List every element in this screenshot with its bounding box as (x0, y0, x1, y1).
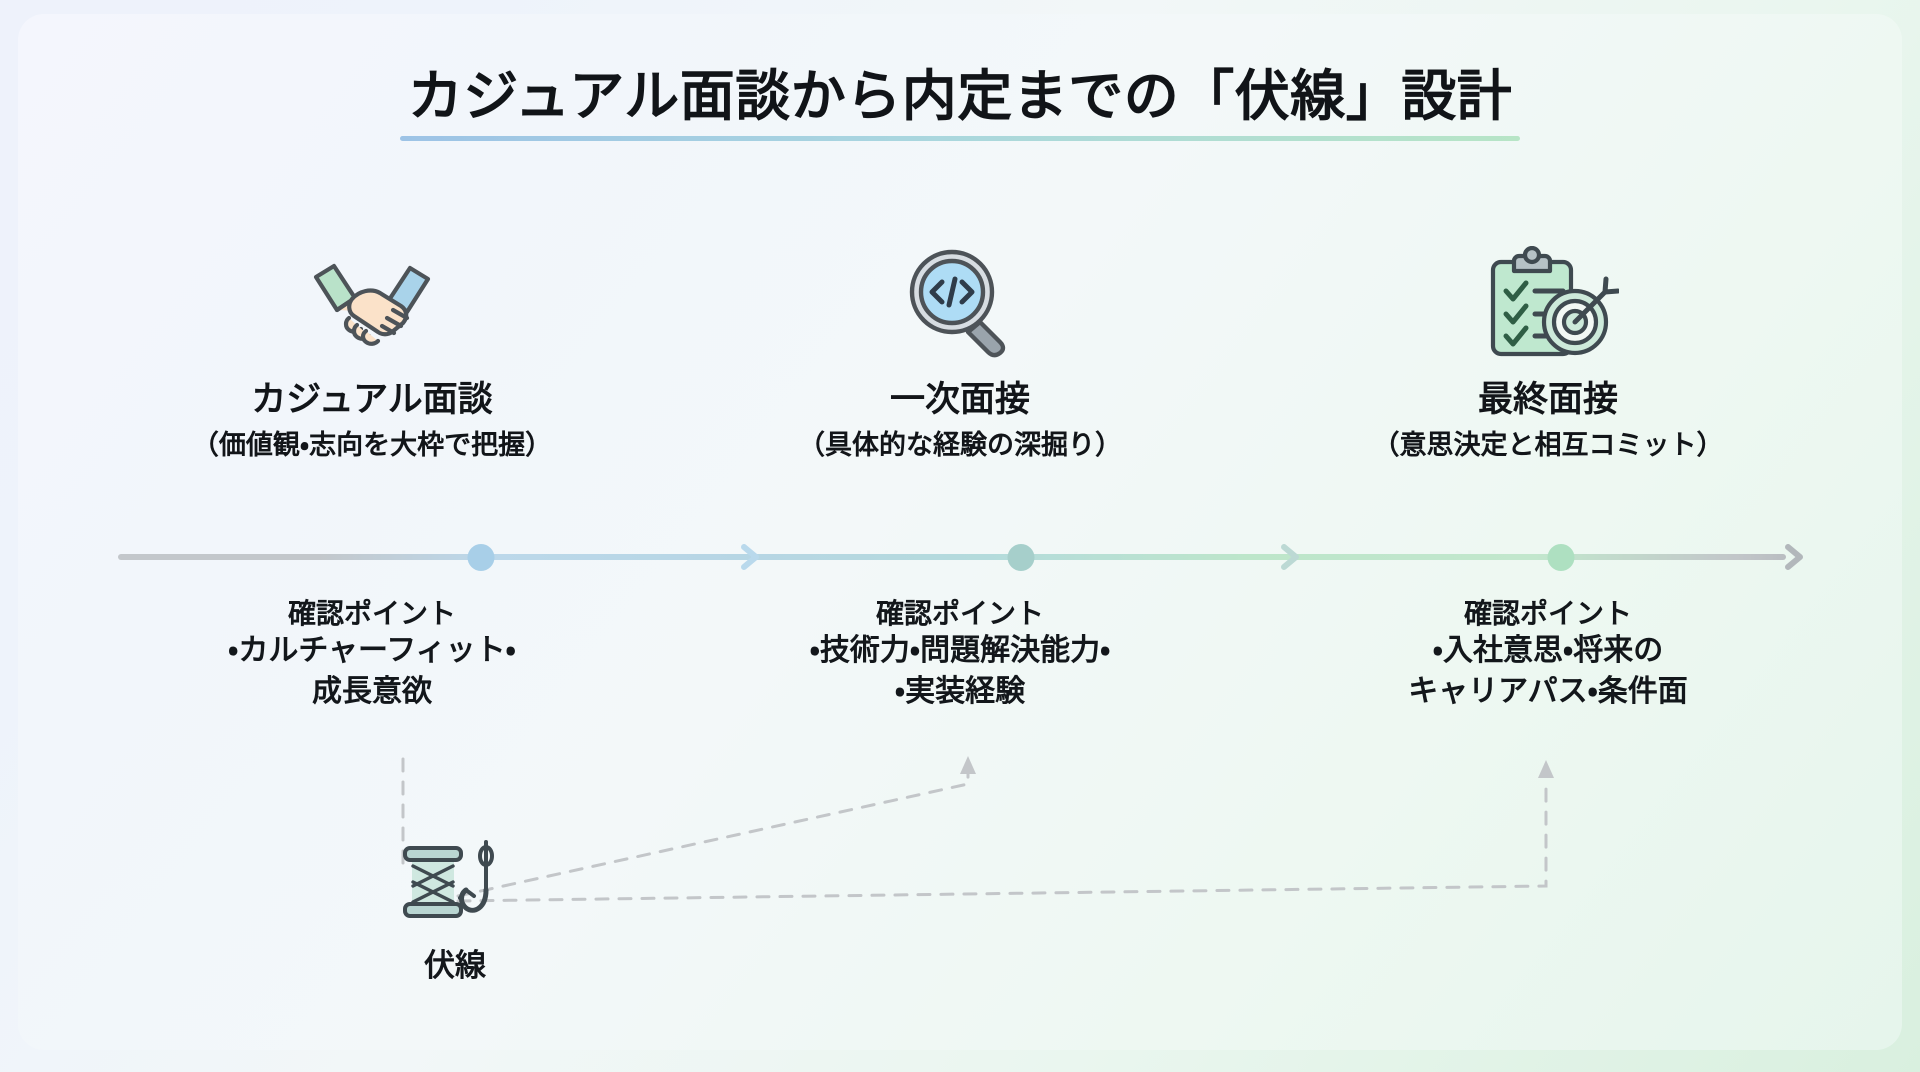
checkpoint-line: ・実装経験 (666, 672, 1254, 713)
stage-subtitle: （具体的な経験の深掘り） (666, 429, 1254, 461)
checkpoint-line: ・技術力・問題解決能力・ (666, 631, 1254, 672)
arrow-head-stage-2 (960, 756, 976, 774)
foreshadow-connectors (18, 14, 1902, 1050)
stage-subtitle: （価値観・志向を大枠で把握） (78, 429, 666, 461)
timeline-dot-stage-3[interactable] (1548, 544, 1575, 571)
stage-title: カジュアル面談 (78, 380, 666, 420)
magnifier-code-icon (666, 246, 1254, 358)
stage-final-interview: 最終面接 （意思決定と相互コミット） (1254, 246, 1842, 462)
stage-title: 最終面接 (1254, 380, 1842, 420)
title-underline (400, 136, 1521, 141)
checkpoint-heading: 確認ポイント (78, 596, 666, 631)
thread-hook-icon (340, 840, 570, 932)
checkpoint-heading: 確認ポイント (1254, 596, 1842, 631)
timeline-dot-stage-1[interactable] (467, 544, 494, 571)
page-title-text: カジュアル面談から内定までの「伏線」設計 (408, 65, 1513, 127)
checkpoint-row: 確認ポイント ・カルチャーフィット・ 成長意欲 確認ポイント ・技術力・問題解決… (78, 596, 1842, 712)
checkpoint-line: ・カルチャーフィット・ (78, 631, 666, 672)
checkpoint-stage-2: 確認ポイント ・技術力・問題解決能力・ ・実装経験 (666, 596, 1254, 712)
stage-title: 一次面接 (666, 380, 1254, 420)
stage-subtitle: （意思決定と相互コミット） (1254, 429, 1842, 461)
checkpoint-heading: 確認ポイント (666, 596, 1254, 631)
timeline-end-arrow-icon (1780, 542, 1810, 577)
checkpoint-stage-1: 確認ポイント ・カルチャーフィット・ 成長意欲 (78, 596, 666, 712)
checkpoint-stage-3: 確認ポイント ・入社意思・将来の キャリアパス・条件面 (1254, 596, 1842, 712)
checkpoint-line: ・入社意思・将来の (1254, 631, 1842, 672)
page-title: カジュアル面談から内定までの「伏線」設計 (400, 66, 1521, 141)
slide-card: カジュアル面談から内定までの「伏線」設計 (18, 14, 1902, 1050)
checkpoint-line: キャリアパス・条件面 (1254, 672, 1842, 713)
slide-canvas: カジュアル面談から内定までの「伏線」設計 (0, 0, 1920, 1072)
clipboard-target-icon (1254, 246, 1842, 358)
timeline-line (118, 554, 1786, 560)
timeline-dot-stage-2[interactable] (1008, 544, 1035, 571)
stage-first-interview: 一次面接 （具体的な経験の深掘り） (666, 246, 1254, 462)
stage-casual-interview: カジュアル面談 （価値観・志向を大枠で把握） (78, 246, 666, 462)
handshake-icon (78, 246, 666, 358)
checkpoint-line: 成長意欲 (78, 672, 666, 713)
foreshadow-label: 伏線 (340, 940, 570, 985)
stage-row: カジュアル面談 （価値観・志向を大枠で把握） (78, 246, 1842, 462)
timeline (118, 534, 1806, 580)
foreshadow-block: 伏線 (340, 840, 570, 985)
timeline-chevron-2 (1276, 542, 1306, 577)
timeline-chevron-1 (736, 542, 766, 577)
title-block: カジュアル面談から内定までの「伏線」設計 (18, 66, 1902, 141)
arrow-head-stage-3 (1538, 760, 1554, 778)
